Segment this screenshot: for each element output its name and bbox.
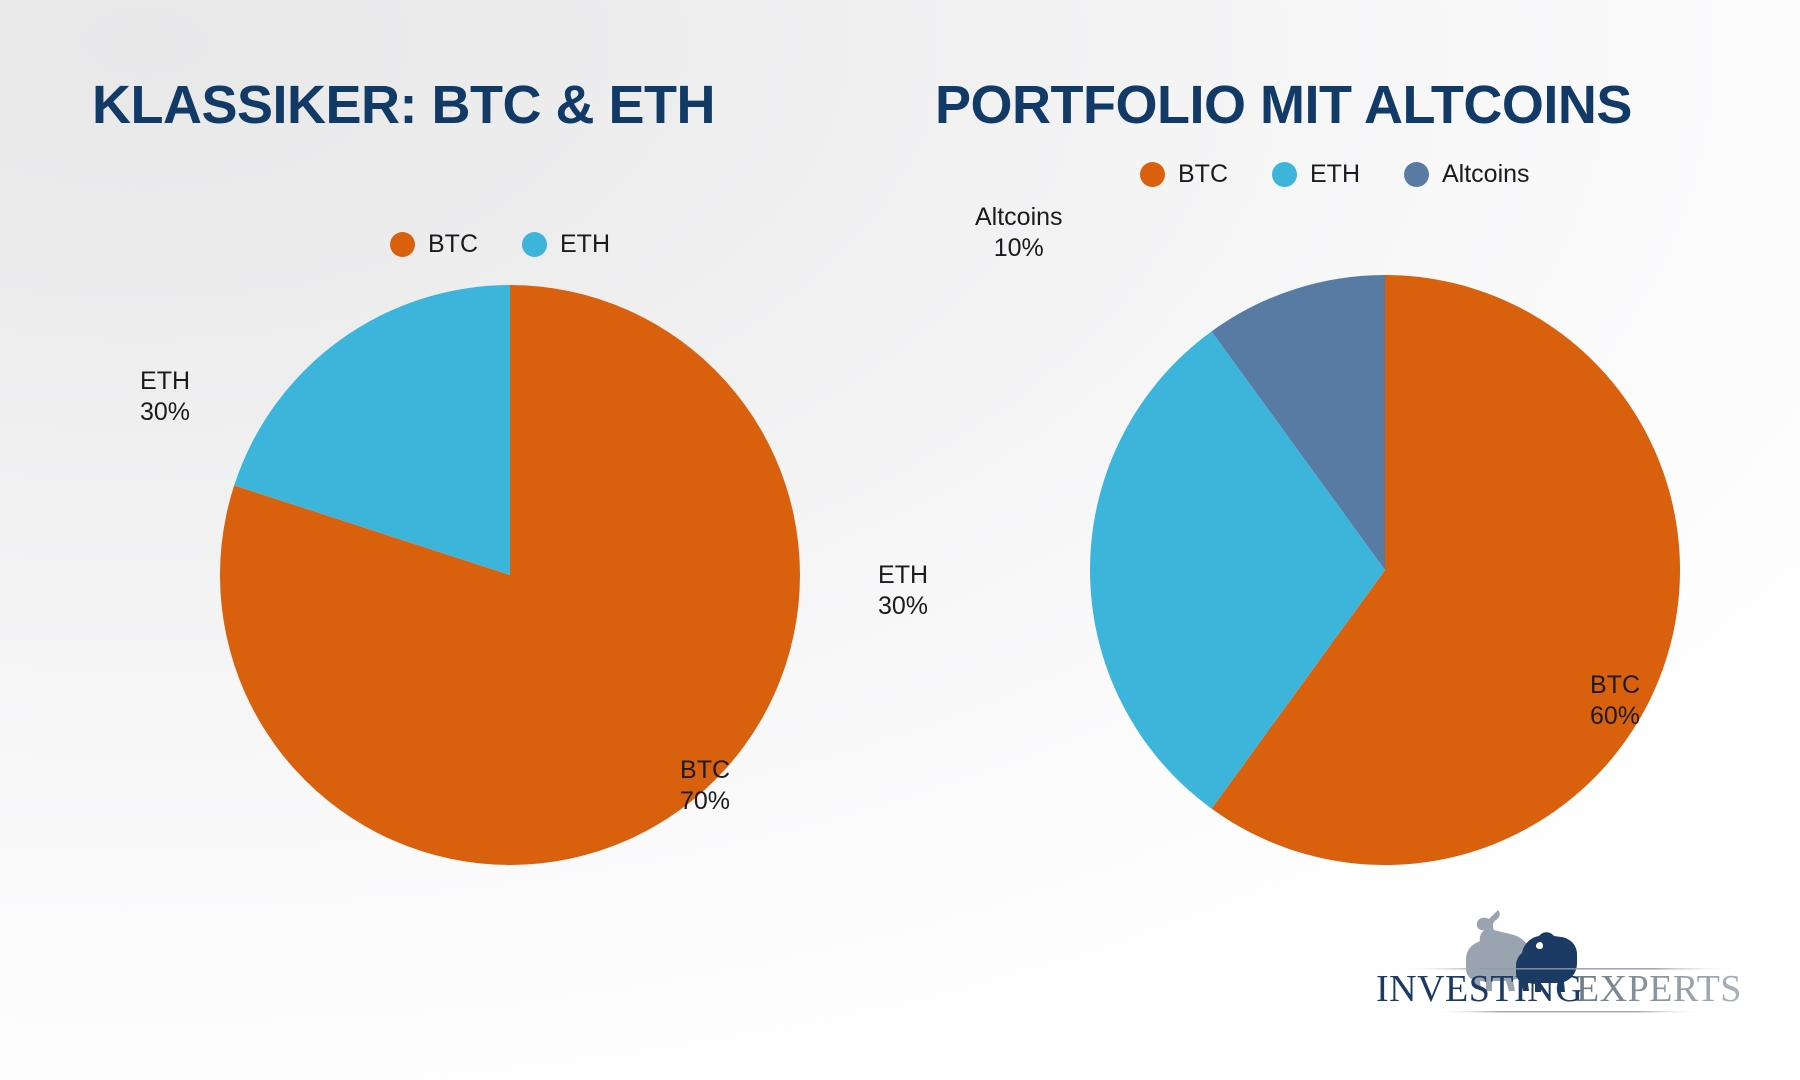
legend-item-eth[interactable]: ETH	[522, 230, 610, 259]
logo-divider-bottom	[1428, 1011, 1708, 1012]
chart-legend-right: BTC ETH Altcoins	[1140, 160, 1530, 189]
logo-word-experts: EXPERTS	[1576, 968, 1742, 1010]
legend-label-eth: ETH	[560, 230, 610, 259]
chart-panel-left: BTC ETH ETH 30% BTC 70%	[60, 170, 860, 960]
legend-item-eth[interactable]: ETH	[1272, 160, 1360, 189]
legend-label-eth: ETH	[1310, 160, 1360, 189]
pie-label-eth-value: 30%	[140, 397, 190, 428]
legend-item-btc[interactable]: BTC	[1140, 160, 1228, 189]
legend-swatch-eth-icon	[522, 232, 547, 257]
legend-swatch-btc-icon	[1140, 162, 1165, 187]
pie-label-btc-name: BTC	[680, 755, 730, 786]
legend-swatch-eth-icon	[1272, 162, 1297, 187]
legend-swatch-altcoins-icon	[1404, 162, 1429, 187]
pie-label-eth-value: 30%	[878, 591, 928, 622]
pie-label-altcoins-name: Altcoins	[975, 202, 1063, 233]
pie-label-btc-value: 60%	[1590, 701, 1640, 732]
page-title-right: PORTFOLIO MIT ALTCOINS	[935, 78, 1632, 132]
legend-item-btc[interactable]: BTC	[390, 230, 478, 259]
pie-label-altcoins-value: 10%	[975, 233, 1063, 264]
brand-logo[interactable]: INVESTING EXPERTS	[1368, 905, 1768, 1035]
pie-label-eth: ETH 30%	[878, 560, 928, 621]
pie-label-altcoins: Altcoins 10%	[975, 202, 1063, 263]
chart-panel-right: BTC ETH Altcoins Altcoins 10% ETH 30% BT…	[900, 130, 1760, 960]
page-title-left: KLASSIKER: BTC & ETH	[92, 78, 715, 132]
legend-label-btc: BTC	[428, 230, 478, 259]
logo-word-investing: INVESTING	[1376, 968, 1583, 1010]
legend-item-altcoins[interactable]: Altcoins	[1404, 160, 1530, 189]
legend-label-altcoins: Altcoins	[1442, 160, 1530, 189]
pie-label-eth-name: ETH	[140, 366, 190, 397]
pie-chart-right	[1090, 275, 1680, 865]
legend-label-btc: BTC	[1178, 160, 1228, 189]
pie-label-eth-name: ETH	[878, 560, 928, 591]
pie-label-btc-name: BTC	[1590, 670, 1640, 701]
pie-label-btc-value: 70%	[680, 786, 730, 817]
legend-swatch-btc-icon	[390, 232, 415, 257]
pie-label-btc: BTC 60%	[1590, 670, 1640, 731]
pie-label-eth: ETH 30%	[140, 366, 190, 427]
pie-label-btc: BTC 70%	[680, 755, 730, 816]
chart-legend-left: BTC ETH	[390, 230, 610, 259]
